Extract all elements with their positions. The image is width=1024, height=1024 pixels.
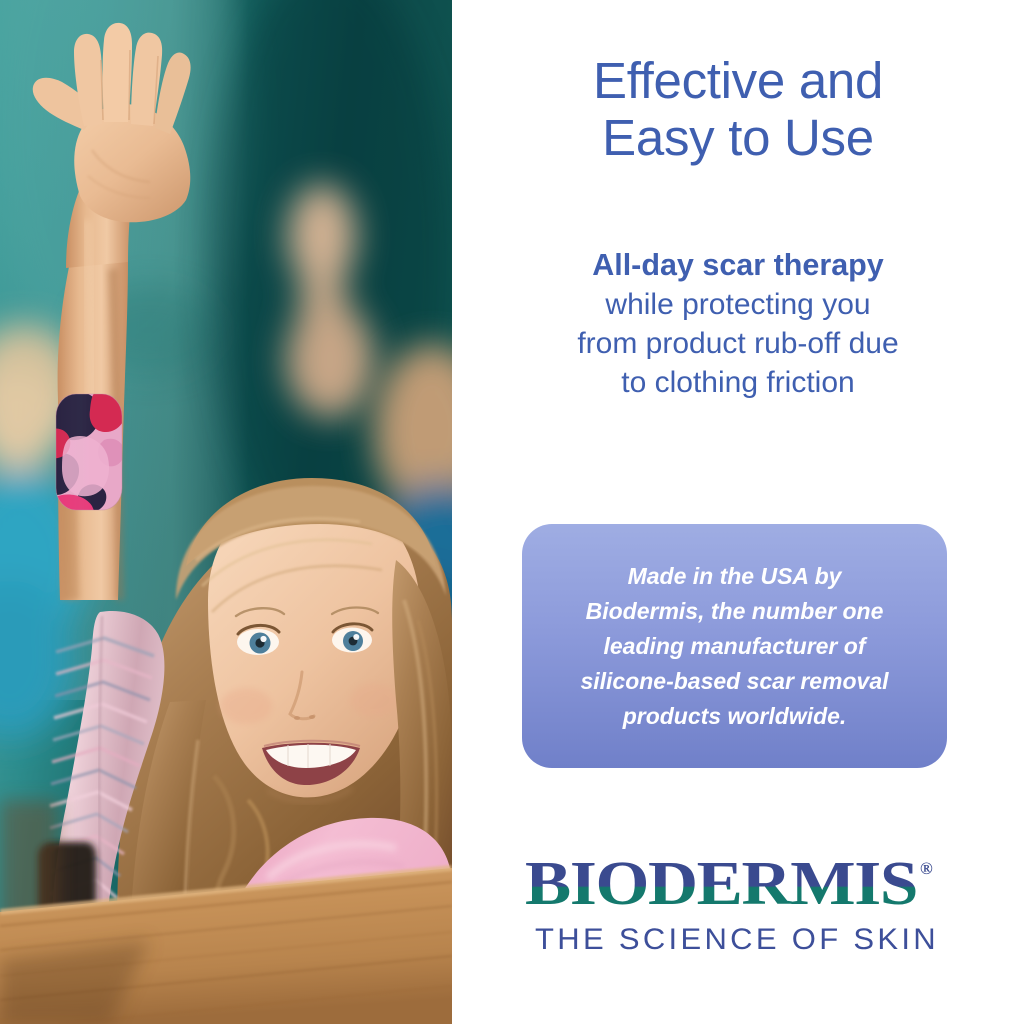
product-lifestyle-photo — [0, 0, 452, 1024]
callout-line-5: products worldwide. — [550, 699, 920, 734]
logo-wordmark-text: BIODERMIS — [525, 850, 917, 918]
subcopy-line-2: while protecting you — [458, 285, 1018, 324]
callout-line-4: silicone-based scar removal — [550, 664, 920, 699]
callout-text: Made in the USA by Biodermis, the number… — [550, 559, 920, 734]
headline-line-2: Easy to Use — [452, 109, 1024, 166]
callout-line-2: Biodermis, the number one — [550, 594, 920, 629]
subcopy-line-1: All-day scar therapy — [458, 246, 1018, 285]
subcopy-line-4: to clothing friction — [458, 363, 1018, 402]
copy-panel: Effective and Easy to Use All-day scar t… — [452, 0, 1024, 1024]
callout-line-3: leading manufacturer of — [550, 629, 920, 664]
made-in-usa-callout: Made in the USA by Biodermis, the number… — [522, 524, 947, 768]
headline-line-1: Effective and — [452, 52, 1024, 109]
subcopy-block: All-day scar therapy while protecting yo… — [458, 246, 1018, 402]
biodermis-logo: BIODERMIS ® THE SCIENCE OF SKIN — [452, 848, 1024, 963]
page-title: Effective and Easy to Use — [452, 52, 1024, 166]
subcopy-line-3: from product rub-off due — [458, 324, 1018, 363]
registered-trademark-icon: ® — [920, 859, 933, 878]
callout-line-1: Made in the USA by — [550, 559, 920, 594]
logo-tagline-text: THE SCIENCE OF SKIN — [535, 923, 939, 956]
marketing-card: Effective and Easy to Use All-day scar t… — [0, 0, 1024, 1024]
